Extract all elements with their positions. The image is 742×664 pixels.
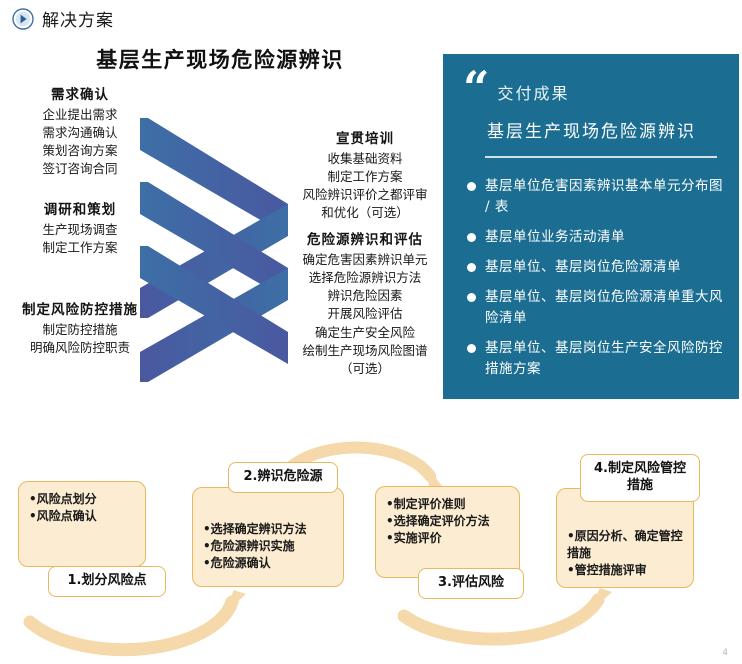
list-item: 基层单位、基层岗位危险源清单重大风险清单 bbox=[467, 287, 723, 329]
process-block-control-measures: 制定风险防控措施 制定防控措施 明确风险防控职责 bbox=[0, 298, 160, 357]
cycle-step-2-badge[interactable]: 2.辨识危险源 bbox=[228, 462, 338, 493]
bullet-icon bbox=[467, 293, 476, 302]
page-number: 4 bbox=[722, 648, 728, 658]
process-line: 签订咨询合同 bbox=[0, 160, 160, 178]
step-line: •风险点确认 bbox=[29, 508, 137, 525]
step-line: •危险源确认 bbox=[203, 555, 335, 572]
list-item: 基层单位业务活动清单 bbox=[467, 227, 723, 248]
deliverables-label: 交付成果 bbox=[497, 80, 569, 104]
process-line: 绘制生产现场风险图谱 bbox=[285, 342, 445, 360]
bullet-icon bbox=[467, 344, 476, 353]
process-line: 需求沟通确认 bbox=[0, 124, 160, 142]
step-line: •管控措施评审 bbox=[567, 562, 685, 579]
process-block-hazard-identification: 危险源辨识和评估 确定危害因素辨识单元 选择危险源辨识方法 辨识危险因素 开展风… bbox=[285, 228, 445, 378]
step-line: •选择确定辨识方法 bbox=[203, 521, 335, 538]
process-line: 生产现场调查 bbox=[0, 221, 160, 239]
process-line: 制定工作方案 bbox=[0, 239, 160, 257]
process-line: 确定生产安全风险 bbox=[285, 324, 445, 342]
step-line: •制定评价准则 bbox=[386, 496, 511, 513]
cycle-arrow-1 bbox=[30, 590, 246, 650]
bullet-icon bbox=[467, 182, 476, 191]
cycle-step-3-body: •制定评价准则 •选择确定评价方法 •实施评价 bbox=[375, 486, 520, 578]
deliverables-panel: “ 交付成果 基层生产现场危险源辨识 基层单位危害因素辨识基本单元分布图 / 表… bbox=[443, 54, 739, 399]
cycle-step-3-badge[interactable]: 3.评估风险 bbox=[418, 568, 524, 599]
process-block-requirement: 需求确认 企业提出需求 需求沟通确认 策划咨询方案 签订咨询合同 bbox=[0, 83, 160, 179]
process-line: （可选） bbox=[285, 360, 445, 378]
process-heading: 需求确认 bbox=[0, 83, 160, 103]
process-line: 选择危险源辨识方法 bbox=[285, 269, 445, 287]
process-heading: 制定风险防控措施 bbox=[0, 298, 160, 318]
list-item: 基层单位、基层岗位危险源清单 bbox=[467, 257, 723, 278]
bullet-icon bbox=[467, 263, 476, 272]
process-block-training: 宣贯培训 收集基础资料 制定工作方案 风险辨识评价之都评审 和优化（可选） bbox=[285, 127, 445, 223]
step-line: •风险点划分 bbox=[29, 491, 137, 508]
step-line: •危险源辨识实施 bbox=[203, 538, 335, 555]
risk-cycle-diagram: •风险点划分 •风险点确认 1.划分风险点 •选择确定辨识方法 •危险源辨识实施… bbox=[0, 404, 742, 664]
page-title: 基层生产现场危险源辨识 bbox=[0, 44, 440, 74]
list-item: 基层单位、基层岗位生产安全风险防控措施方案 bbox=[467, 338, 723, 380]
step-line: •原因分析、确定管控措施 bbox=[567, 528, 685, 562]
process-line: 辨识危险因素 bbox=[285, 287, 445, 305]
bullet-icon bbox=[467, 233, 476, 242]
process-heading: 危险源辨识和评估 bbox=[285, 228, 445, 248]
cycle-step-4-badge[interactable]: 4.制定风险管控措施 bbox=[580, 454, 700, 502]
process-line: 明确风险防控职责 bbox=[0, 339, 160, 357]
deliverable-text: 基层单位、基层岗位生产安全风险防控措施方案 bbox=[485, 338, 723, 380]
zigzag-ribbon-graphic bbox=[140, 118, 300, 396]
cycle-step-1-badge[interactable]: 1.划分风险点 bbox=[48, 566, 166, 597]
quote-mark-icon: “ bbox=[463, 72, 489, 105]
process-line: 风险辨识评价之都评审 bbox=[285, 186, 445, 204]
deliverable-text: 基层单位、基层岗位危险源清单重大风险清单 bbox=[485, 287, 723, 329]
slide-header: 解决方案 bbox=[12, 6, 114, 31]
deliverable-text: 基层单位、基层岗位危险源清单 bbox=[485, 257, 681, 278]
deliverables-subtitle: 基层生产现场危险源辨识 bbox=[487, 117, 723, 142]
process-line: 开展风险评估 bbox=[285, 305, 445, 323]
list-item: 基层单位危害因素辨识基本单元分布图 / 表 bbox=[467, 176, 723, 218]
step-line: •实施评价 bbox=[386, 530, 511, 547]
process-line: 确定危害因素辨识单元 bbox=[285, 251, 445, 269]
play-circle-icon bbox=[12, 8, 34, 30]
process-line: 制定防控措施 bbox=[0, 321, 160, 339]
deliverables-header: “ 交付成果 bbox=[463, 72, 723, 105]
deliverables-divider bbox=[485, 156, 717, 158]
cycle-step-4-body: •原因分析、确定管控措施 •管控措施评审 bbox=[556, 488, 694, 588]
process-line: 制定工作方案 bbox=[285, 168, 445, 186]
process-block-research: 调研和策划 生产现场调查 制定工作方案 bbox=[0, 198, 160, 257]
slide-header-title: 解决方案 bbox=[42, 6, 114, 31]
cycle-step-1-body: •风险点划分 •风险点确认 bbox=[18, 481, 146, 567]
deliverable-text: 基层单位危害因素辨识基本单元分布图 / 表 bbox=[485, 176, 723, 218]
process-line: 和优化（可选） bbox=[285, 204, 445, 222]
deliverables-list: 基层单位危害因素辨识基本单元分布图 / 表 基层单位业务活动清单 基层单位、基层… bbox=[467, 176, 723, 379]
process-line: 收集基础资料 bbox=[285, 150, 445, 168]
process-line: 策划咨询方案 bbox=[0, 142, 160, 160]
cycle-step-2-body: •选择确定辨识方法 •危险源辨识实施 •危险源确认 bbox=[192, 487, 344, 587]
process-heading: 宣贯培训 bbox=[285, 127, 445, 147]
process-heading: 调研和策划 bbox=[0, 198, 160, 218]
step-line: •选择确定评价方法 bbox=[386, 513, 511, 530]
process-line: 企业提出需求 bbox=[0, 106, 160, 124]
deliverable-text: 基层单位业务活动清单 bbox=[485, 227, 625, 248]
